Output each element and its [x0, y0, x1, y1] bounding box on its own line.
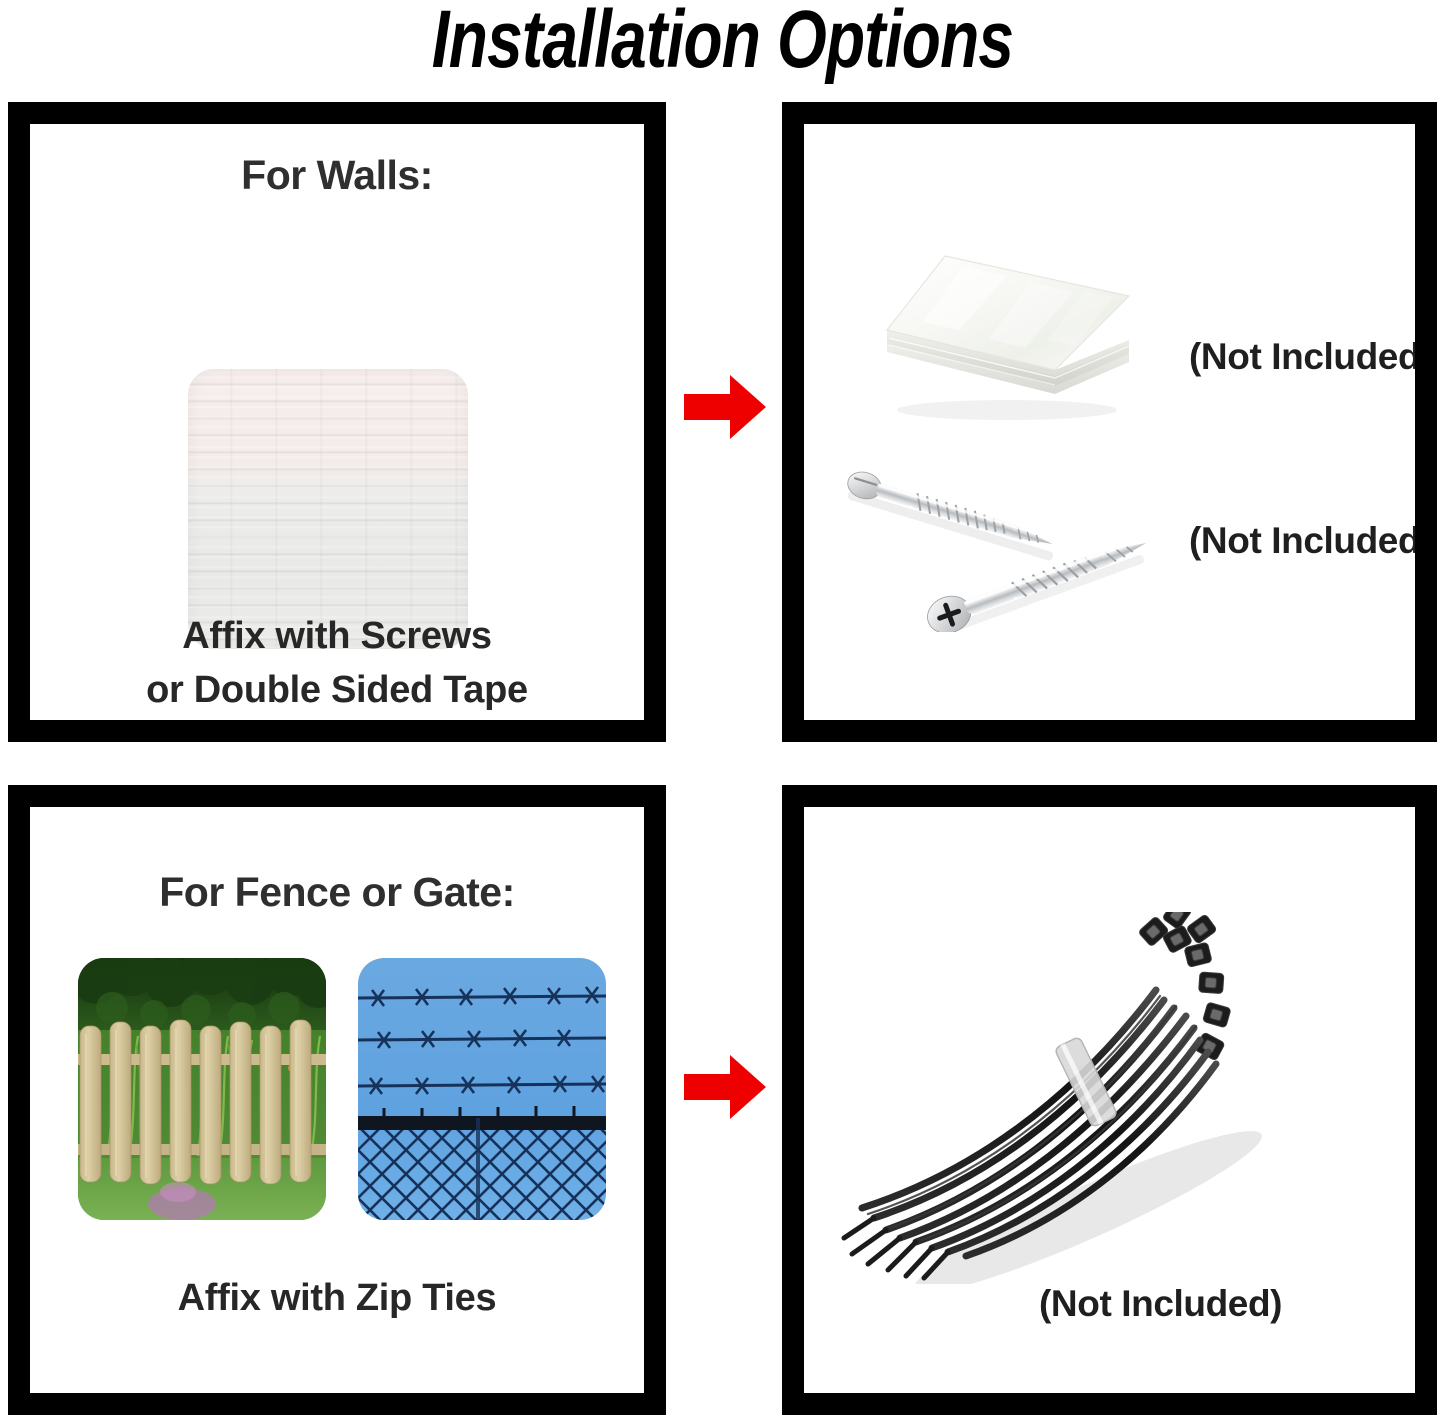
zip-ties-not-included-label: (Not Included) [1039, 1283, 1282, 1325]
walls-caption: Affix with Screws or Double Sided Tape [30, 610, 644, 718]
chain-link-barbed-wire-fence-image [358, 958, 606, 1220]
for-fence-heading: For Fence or Gate: [30, 869, 644, 916]
panel-for-fence-content: For Fence or Gate: [30, 807, 644, 1393]
fence-caption: Affix with Zip Ties [30, 1272, 644, 1326]
tape-not-included-label: (Not Included) [1189, 336, 1415, 378]
panel-zip-ties-content: (Not Included) [804, 807, 1415, 1393]
screws-not-included-label: (Not Included) [1189, 520, 1415, 562]
panel-fasteners: (Not Included) [782, 102, 1437, 742]
red-right-arrow-icon [682, 372, 768, 442]
panel-zip-ties: (Not Included) [782, 785, 1437, 1415]
for-walls-heading: For Walls: [30, 152, 644, 199]
double-sided-tape-stack-image [867, 244, 1135, 422]
white-brick-wall-image [188, 369, 468, 649]
silver-screws-image [834, 450, 1186, 632]
panel-for-fence-or-gate: For Fence or Gate: [8, 785, 666, 1415]
black-zip-ties-bundle-image [838, 912, 1306, 1284]
panel-fasteners-content: (Not Included) [804, 124, 1415, 720]
walls-caption-line-1: Affix with Screws [30, 610, 644, 664]
red-right-arrow-icon [682, 1052, 768, 1122]
panel-for-walls: For Walls: Affix with Screws or Double S… [8, 102, 666, 742]
wooden-picket-fence-image [78, 958, 326, 1220]
walls-caption-line-2: or Double Sided Tape [30, 664, 644, 718]
page-title: Installation Options [159, 0, 1286, 86]
panel-for-walls-content: For Walls: Affix with Screws or Double S… [30, 124, 644, 720]
